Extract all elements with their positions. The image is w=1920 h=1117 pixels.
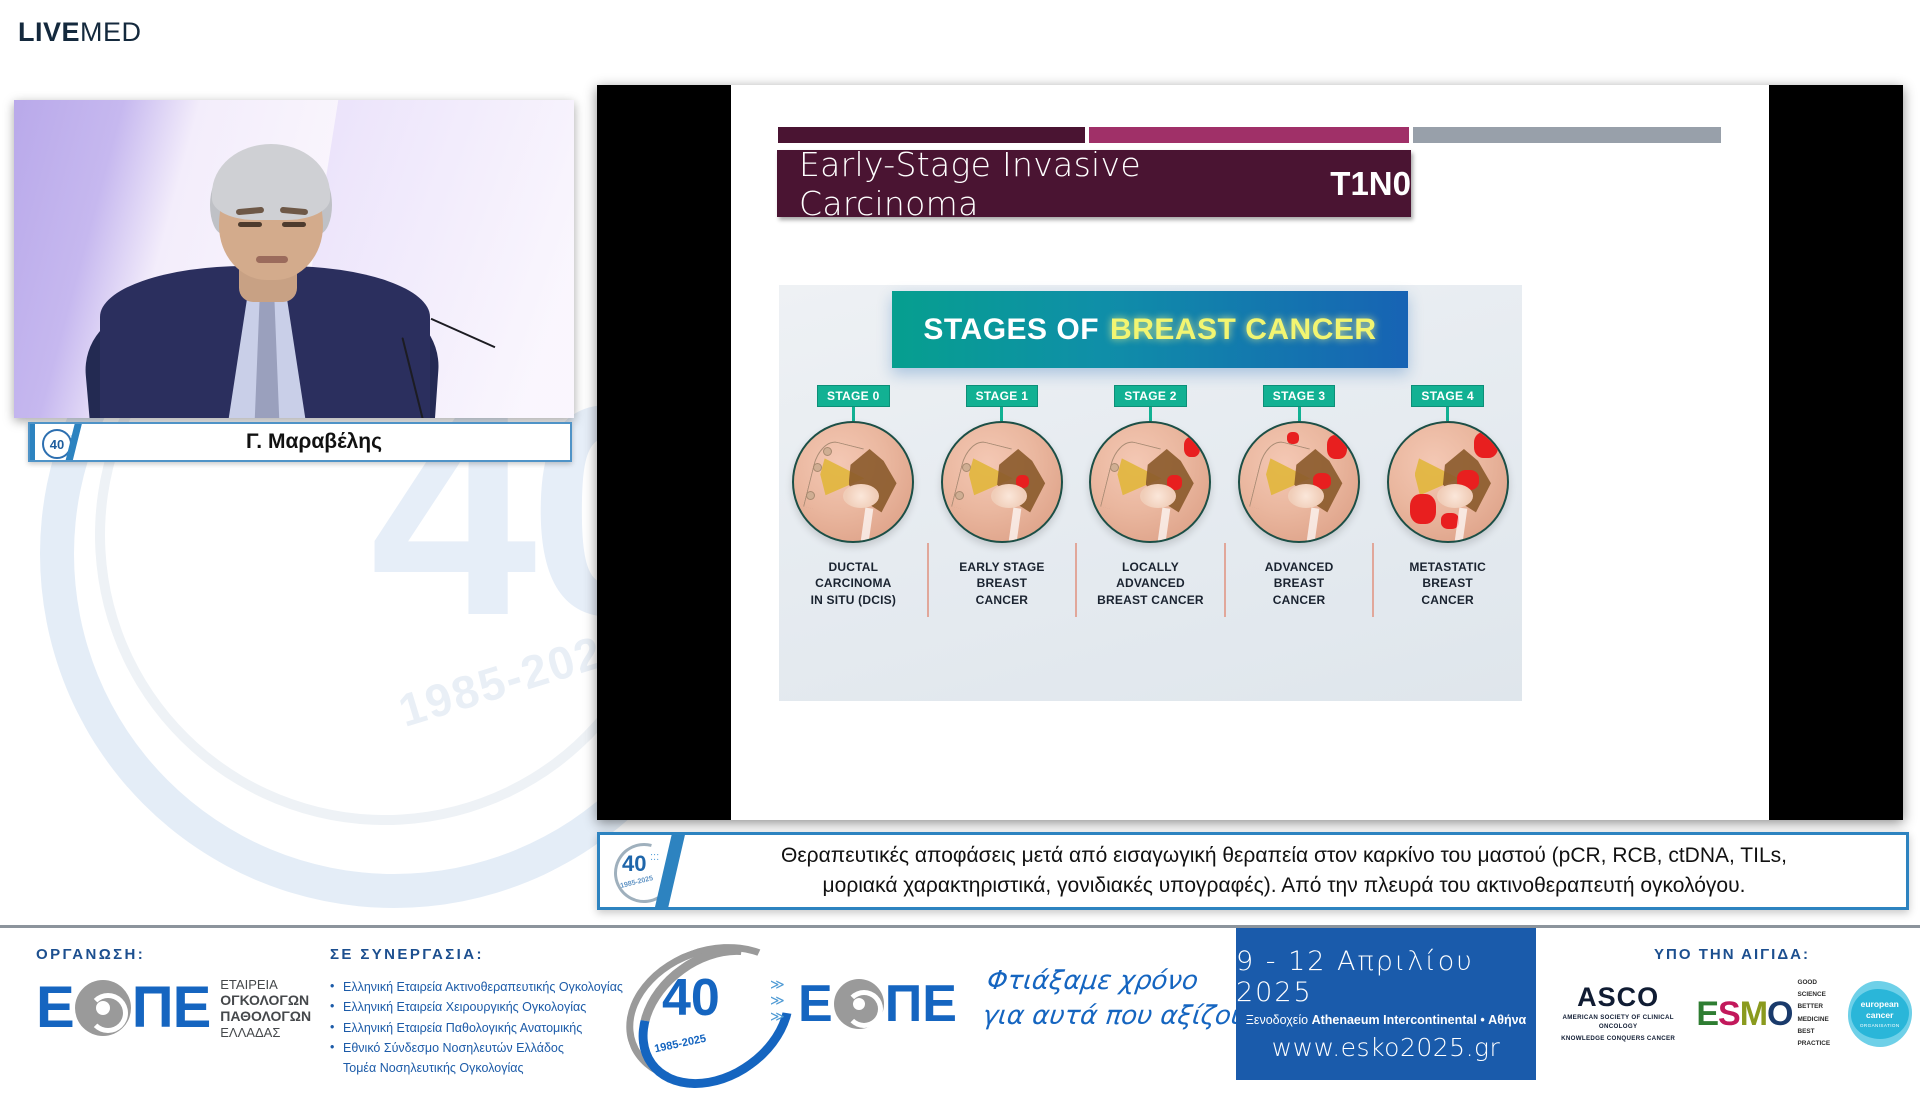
esmo-tagline-1: GOOD SCIENCE [1797, 977, 1835, 1001]
caption-line-1: Θεραπευτικές αποφάσεις μετά από εισαγωγι… [688, 841, 1880, 871]
stage-column: STAGE 4 METASTATIC BREAST CANCER [1373, 385, 1522, 701]
venue-name: Athenaeum Intercontinental • Αθήνα [1312, 1013, 1527, 1027]
stage-tag: STAGE 1 [966, 385, 1039, 407]
stage-tag: STAGE 0 [817, 385, 890, 407]
esmo-letter-e: E [1696, 995, 1718, 1033]
cooperation-block: ΣΕ ΣΥΝΕΡΓΑΣΙΑ: Ελληνική Εταιρεία Ακτινοθ… [330, 946, 623, 1078]
esmo-tagline-2: BETTER MEDICINE [1797, 1001, 1835, 1025]
livemed-logo-light: MED [80, 17, 142, 47]
session-caption-bar: 40 1985-2025 ::: Θεραπευτικές αποφάσεις … [597, 832, 1909, 910]
slogan-line-2: για αυτά που αξίζουν [981, 999, 1263, 1034]
speaker-mouth [256, 256, 288, 263]
cooperation-subitem: Τομέα Νοσηλευτικής Ογκολογίας [330, 1058, 623, 1078]
stage-connector [1000, 407, 1003, 421]
ec-line-1: european [1861, 999, 1899, 1010]
slide-title: Early-Stage Invasive Carcinoma T1N0 [777, 150, 1411, 217]
anniversary-spiral-icon [834, 979, 884, 1029]
stage-label: LOCALLY ADVANCED BREAST CANCER [1097, 559, 1204, 608]
anniversary-badge-icon: 40 1985-2025 ::: [600, 835, 688, 907]
progress-segment-1 [778, 127, 1085, 143]
anniversary-eope-logo: 40 1985-2025 ≫≫≫ Ε ΠΕ [622, 950, 972, 1062]
stage-label: ADVANCED BREAST CANCER [1265, 559, 1334, 608]
stage-connector [1446, 407, 1449, 421]
stages-graphic-heading: STAGES OF BREAST CANCER [892, 291, 1408, 368]
list-item: Ελληνική Εταιρεία Ακτινοθεραπευτικής Ογκ… [330, 977, 623, 997]
esmo-letter-m: M [1740, 995, 1767, 1033]
caption-line-2: μοριακά χαρακτηριστικά, γονιδιακές υπογρ… [688, 871, 1880, 901]
anniversary-badge-icon: 40 ::: [30, 424, 88, 460]
stage-connector [1298, 407, 1301, 421]
eope-subtitle: ΕΤΑΙΡΕΙΑ ΟΓΚΟΛΟΓΩΝ ΠΑΘΟΛΟΓΩΝ ΕΛΛΑΔΑΣ [220, 977, 311, 1040]
caption-badge-number: 40 [622, 853, 646, 875]
eope-letter-e: Ε [36, 979, 74, 1037]
eope-sub-line-4: ΕΛΛΑΔΑΣ [220, 1025, 311, 1040]
eope-spiral-icon [75, 980, 131, 1036]
conference-venue: Ξενοδοχείο Athenaeum Intercontinental • … [1246, 1013, 1527, 1027]
asco-tagline-2: KNOWLEDGE CONQUERS CANCER [1552, 1035, 1684, 1044]
eope-sub-line-1: ΕΤΑΙΡΕΙΑ [220, 977, 311, 992]
list-item: Εθνικό Σύνδεσμο Νοσηλευτών Ελλάδος [330, 1038, 623, 1058]
stage-column: STAGE 2 LOCALLY ADVANCED BREAST CANCER [1076, 385, 1225, 701]
stage-tag: STAGE 4 [1411, 385, 1484, 407]
speaker-name: Γ. Μαραβέλης [88, 430, 570, 454]
speaker-hair [212, 144, 330, 220]
asco-logo: ASCO AMERICAN SOCIETY OF CLINICAL ONCOLO… [1552, 984, 1684, 1044]
stage-label: EARLY STAGE BREAST CANCER [959, 559, 1044, 608]
stage-column: STAGE 3 ADVANCED BREAST CANCER [1225, 385, 1374, 701]
sponsor-footer: ΟΡΓΑΝΩΣΗ: Ε ΠΕ ΕΤΑΙΡΕΙΑ ΟΓΚΟΛΟΓΩΝ ΠΑΘΟΛΟ… [0, 925, 1920, 1083]
breast-illustration-icon [1089, 421, 1211, 543]
organizer-block: ΟΡΓΑΝΩΣΗ: Ε ΠΕ ΕΤΑΙΡΕΙΑ ΟΓΚΟΛΟΓΩΝ ΠΑΘΟΛΟ… [36, 946, 311, 1040]
esmo-letter-o: O [1767, 995, 1792, 1033]
session-caption-text: Θεραπευτικές αποφάσεις μετά από εισαγωγι… [688, 841, 1906, 901]
stages-heading-plain: STAGES OF [923, 313, 1099, 347]
eope-wordmark: Ε ΠΕ [36, 979, 210, 1037]
ec-line-2: cancer [1866, 1010, 1893, 1021]
stage-column: STAGE 1 EARLY STAGE BREAST CANCER [928, 385, 1077, 701]
slide-title-stage: T1N0 [1330, 165, 1411, 203]
eope-sub-line-3: ΠΑΘΟΛΟΓΩΝ [220, 1008, 311, 1024]
asco-name: ASCO [1552, 984, 1684, 1011]
eope-logo: Ε ΠΕ ΕΤΑΙΡΕΙΑ ΟΓΚΟΛΟΓΩΝ ΠΑΘΟΛΟΓΩΝ ΕΛΛΑΔΑ… [36, 977, 311, 1040]
conference-url[interactable]: www.esko2025.gr [1272, 1033, 1501, 1062]
breast-illustration-icon [792, 421, 914, 543]
speaker-video-panel[interactable] [14, 100, 574, 418]
conference-date: 9 - 12 Απριλίου 2025 [1236, 946, 1536, 1008]
anniversary-letter-e: Ε [798, 978, 833, 1030]
slide-canvas: Early-Stage Invasive Carcinoma T1N0 STAG… [731, 85, 1769, 820]
esmo-tagline-3: BEST PRACTICE [1797, 1026, 1835, 1050]
cooperation-heading: ΣΕ ΣΥΝΕΡΓΑΣΙΑ: [330, 946, 623, 963]
stage-label: METASTATIC BREAST CANCER [1409, 559, 1486, 608]
venue-prefix: Ξενοδοχείο [1246, 1013, 1312, 1027]
stages-columns: STAGE 0 DUCTAL CARCINOMA IN SITU (DCIS) [779, 385, 1522, 701]
speaker-eye-left [238, 222, 262, 227]
progress-segment-2 [1089, 127, 1409, 143]
aegis-heading: ΥΠΟ ΤΗΝ ΑΙΓΙΔΑ: [1552, 946, 1912, 963]
conference-date-box[interactable]: 9 - 12 Απριλίου 2025 Ξενοδοχείο Athenaeu… [1236, 928, 1536, 1080]
progress-segment-3 [1413, 127, 1721, 143]
presentation-slide-panel[interactable]: Early-Stage Invasive Carcinoma T1N0 STAG… [597, 85, 1903, 820]
cooperation-list: Ελληνική Εταιρεία Ακτινοθεραπευτικής Ογκ… [330, 977, 623, 1078]
breast-illustration-icon [941, 421, 1063, 543]
asco-tagline-1: AMERICAN SOCIETY OF CLINICAL ONCOLOGY [1552, 1014, 1684, 1032]
stage-connector [852, 407, 855, 421]
european-cancer-organisation-logo: european cancer ORGANISATION [1848, 981, 1912, 1047]
esmo-taglines: GOOD SCIENCE BETTER MEDICINE BEST PRACTI… [1797, 977, 1835, 1050]
stage-tag: STAGE 3 [1263, 385, 1336, 407]
ec-line-3: ORGANISATION [1860, 1023, 1900, 1028]
livemed-logo[interactable]: LIVEMED [18, 17, 142, 48]
anniversary-number: 40 [662, 972, 720, 1024]
aegis-block: ΥΠΟ ΤΗΝ ΑΙΓΙΔΑ: ASCO AMERICAN SOCIETY OF… [1552, 946, 1912, 1050]
slide-title-main: Early-Stage Invasive Carcinoma [799, 145, 1320, 223]
caption-badge-dots-icon: ::: [650, 853, 659, 862]
stage-column: STAGE 0 DUCTAL CARCINOMA IN SITU (DCIS) [779, 385, 928, 701]
anniversary-letters-pe: ΠΕ [885, 978, 957, 1030]
aegis-logos: ASCO AMERICAN SOCIETY OF CLINICAL ONCOLO… [1552, 977, 1912, 1050]
conference-slogan: Φτιάξαμε χρόνο για αυτά που αξίζουν [981, 964, 1267, 1034]
eope-sub-line-2: ΟΓΚΟΛΟΓΩΝ [220, 992, 311, 1008]
stage-tag: STAGE 2 [1114, 385, 1187, 407]
livemed-logo-bold: LIVE [18, 17, 80, 47]
stage-connector [1149, 407, 1152, 421]
esmo-logo: ESMO GOOD SCIENCE BETTER MEDICINE BEST P… [1696, 977, 1835, 1050]
organizer-heading: ΟΡΓΑΝΩΣΗ: [36, 946, 311, 963]
stages-heading-highlight: BREAST CANCER [1110, 313, 1377, 347]
esmo-letter-s: S [1718, 995, 1740, 1033]
breast-cancer-stages-graphic: STAGES OF BREAST CANCER STAGE 0 DUCT [779, 285, 1522, 701]
stage-label: DUCTAL CARCINOMA IN SITU (DCIS) [811, 559, 896, 608]
anniversary-sparkle-icon: ≫≫≫ [770, 976, 783, 1024]
list-item: Ελληνική Εταιρεία Παθολογικής Ανατομικής [330, 1018, 623, 1038]
speaker-name-bar: 40 ::: Γ. Μαραβέλης [28, 422, 572, 462]
esmo-wordmark: ESMO [1696, 997, 1792, 1031]
slogan-line-1: Φτιάξαμε χρόνο [985, 964, 1267, 999]
eope-letters-pe: ΠΕ [132, 979, 211, 1037]
breast-illustration-icon [1238, 421, 1360, 543]
anniversary-eope-wordmark: Ε ΠΕ [798, 978, 957, 1030]
breast-illustration-icon [1387, 421, 1509, 543]
speaker-eye-right [282, 222, 306, 227]
list-item: Ελληνική Εταιρεία Χειρουργικής Ογκολογία… [330, 997, 623, 1017]
